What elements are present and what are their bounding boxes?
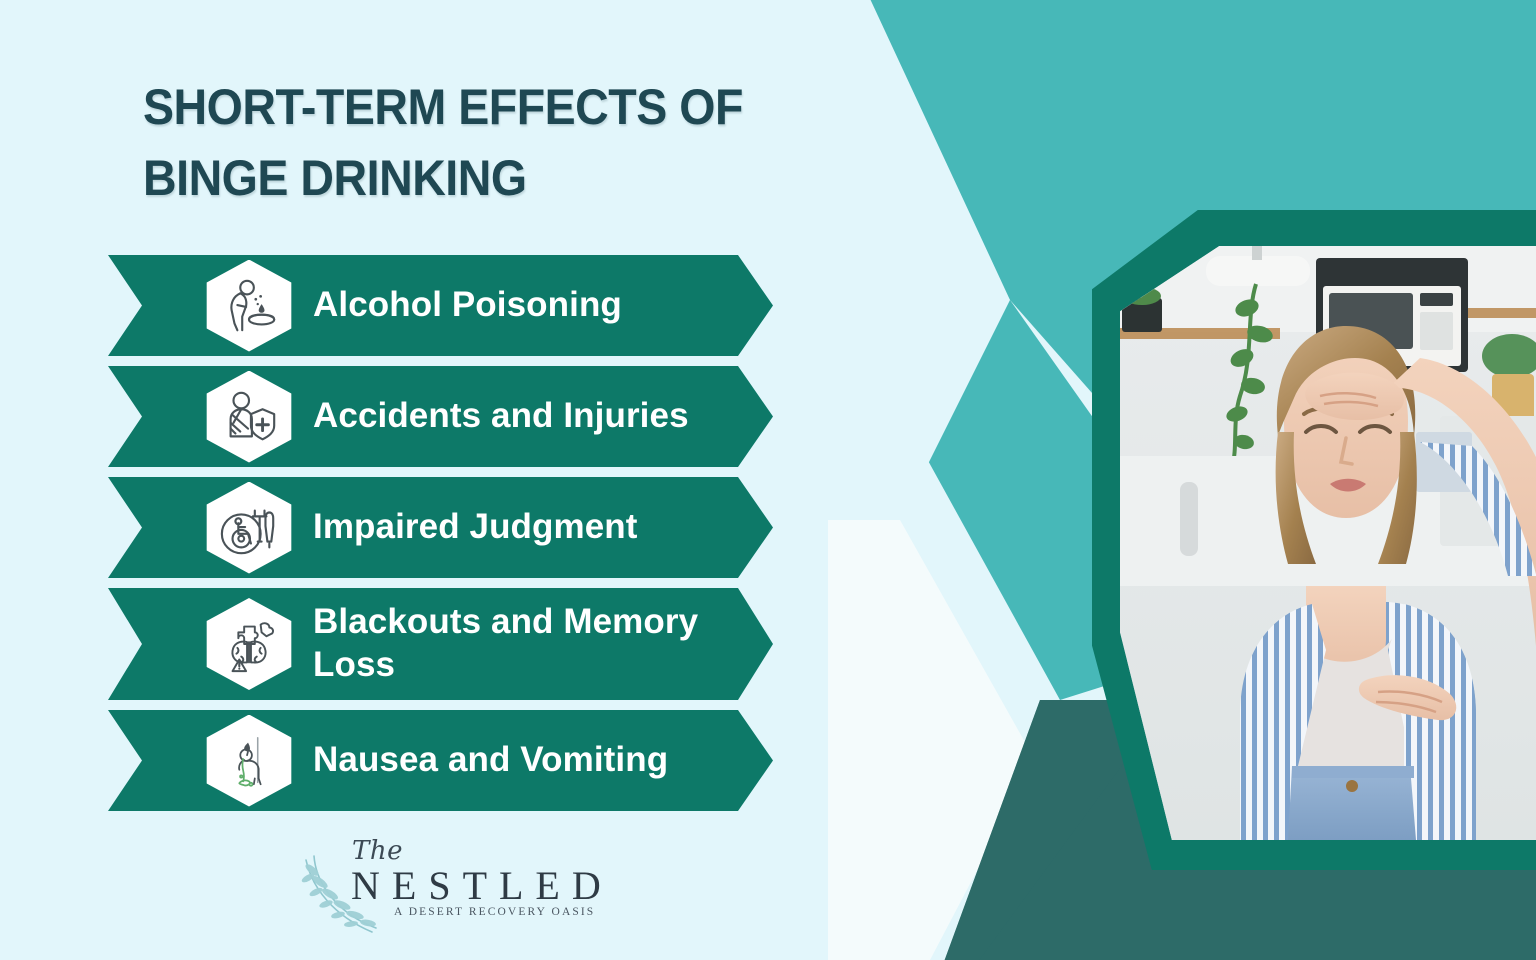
person-vomiting-basin-icon — [218, 275, 280, 337]
list-item[interactable]: Alcohol Poisoning — [108, 255, 773, 356]
wheelchair-crutches-icon — [218, 497, 280, 559]
hero-photo-frame — [1092, 210, 1536, 870]
list-item[interactable]: Accidents and Injuries — [108, 366, 773, 467]
list-item-label: Nausea and Vomiting — [313, 739, 668, 782]
icon-badge — [203, 715, 295, 807]
page-title: SHORT-TERM EFFECTS OF BINGE DRINKING — [143, 72, 701, 214]
list-item-label: Accidents and Injuries — [313, 395, 689, 438]
list-item-label: Alcohol Poisoning — [313, 284, 622, 327]
person-vomiting-icon — [218, 730, 280, 792]
injured-person-shield-icon — [218, 386, 280, 448]
brand-logo[interactable]: The NESTLED A DESERT RECOVERY OASIS — [296, 836, 576, 940]
list-item-label: Blackouts and Memory Loss — [313, 601, 733, 686]
icon-badge — [203, 371, 295, 463]
list-item[interactable]: Impaired Judgment — [108, 477, 773, 578]
hero-photo — [1120, 246, 1536, 840]
icon-badge — [203, 598, 295, 690]
icon-badge — [203, 482, 295, 574]
icon-badge — [203, 260, 295, 352]
logo-tagline-text: A DESERT RECOVERY OASIS — [394, 906, 595, 918]
list-item[interactable]: Nausea and Vomiting — [108, 710, 773, 811]
infographic-canvas: SHORT-TERM EFFECTS OF BINGE DRINKING — [0, 0, 1536, 960]
list-item[interactable]: Blackouts and Memory Loss — [108, 588, 773, 700]
page-title-line-2: BINGE DRINKING — [143, 143, 701, 214]
hero-photo-illustration — [1120, 246, 1536, 840]
brain-puzzle-warning-icon — [218, 613, 280, 675]
list-item-label: Impaired Judgment — [313, 506, 638, 549]
logo-name-text: NESTLED — [351, 862, 613, 909]
effects-list: Alcohol Poisoning — [108, 255, 773, 821]
page-title-line-1: SHORT-TERM EFFECTS OF — [143, 72, 701, 143]
